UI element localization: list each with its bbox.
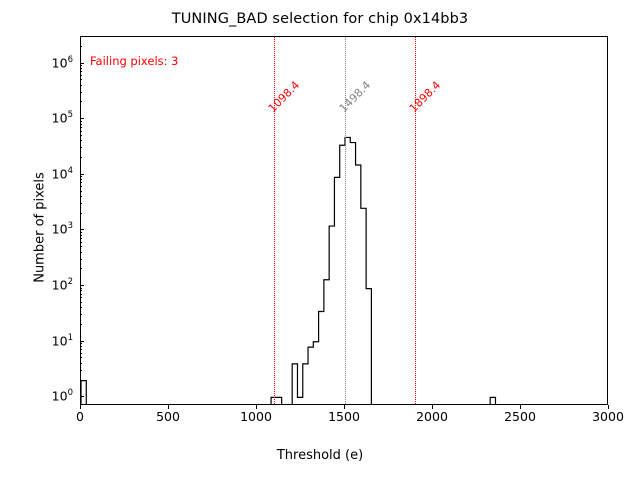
page-title: TUNING_BAD selection for chip 0x14bb3 [0, 11, 640, 27]
figure-canvas: TUNING_BAD selection for chip 0x14bb3 Fa… [0, 0, 640, 480]
y-axis-minor-tick [80, 370, 82, 371]
y-axis-label: Number of pixels [33, 28, 48, 428]
y-axis-minor-tick [80, 235, 82, 236]
x-axis-tick-label: 0 [76, 409, 84, 424]
y-axis-minor-tick [80, 92, 82, 93]
x-axis-tick-label: 500 [156, 409, 180, 424]
y-axis-minor-tick [80, 232, 82, 233]
y-axis-tick-mark [80, 285, 84, 286]
x-axis-tick-mark [168, 405, 169, 409]
y-axis-minor-tick [80, 203, 82, 204]
y-axis-minor-tick [80, 65, 82, 66]
y-axis-minor-tick [80, 246, 82, 247]
y-axis-minor-tick [80, 157, 82, 158]
y-axis-minor-tick [80, 75, 82, 76]
y-axis-minor-tick [80, 101, 82, 102]
y-axis-tick-mark [80, 229, 84, 230]
x-axis-tick-mark [608, 405, 609, 409]
x-axis-tick-mark [80, 405, 81, 409]
y-axis-minor-tick [80, 314, 82, 315]
y-axis-minor-tick [80, 179, 82, 180]
y-axis-minor-tick [80, 127, 82, 128]
y-axis-minor-tick [80, 288, 82, 289]
y-axis-minor-tick [80, 46, 82, 47]
plot-axes: Failing pixels: 3 [80, 36, 608, 405]
y-axis-minor-tick [80, 68, 82, 69]
x-axis-label: Threshold (e) [0, 448, 640, 463]
y-axis-minor-tick [80, 302, 82, 303]
y-axis-minor-tick [80, 297, 82, 298]
y-axis-tick-mark [80, 118, 84, 119]
y-axis-minor-tick [80, 307, 82, 308]
y-axis-minor-tick [80, 36, 82, 37]
x-axis-tick-label: 1500 [328, 409, 360, 424]
y-axis-tick-mark [80, 63, 84, 64]
y-axis-minor-tick [80, 213, 82, 214]
y-axis-minor-tick [80, 176, 82, 177]
y-axis-minor-tick [80, 147, 82, 148]
target-threshold-line [345, 37, 346, 404]
y-axis-minor-tick [80, 191, 82, 192]
x-axis-tick-mark [344, 405, 345, 409]
y-axis-minor-tick [80, 349, 82, 350]
y-axis-minor-tick [80, 353, 82, 354]
y-axis-minor-tick [80, 357, 82, 358]
y-axis-minor-tick [80, 294, 82, 295]
y-axis-minor-tick [80, 290, 82, 291]
y-axis-minor-tick [80, 259, 82, 260]
y-axis-minor-tick [80, 268, 82, 269]
histogram-outline [81, 137, 495, 405]
y-axis-minor-tick [80, 71, 82, 72]
y-axis-minor-tick [80, 135, 82, 136]
x-axis-tick-mark [256, 405, 257, 409]
y-axis-tick-mark [80, 174, 84, 175]
x-axis-tick-label: 2000 [416, 409, 448, 424]
y-axis-tick-mark [80, 396, 84, 397]
y-axis-minor-tick [80, 124, 82, 125]
x-axis-tick-label: 1000 [240, 409, 272, 424]
y-axis-minor-tick [80, 363, 82, 364]
x-axis-tick-label: 2500 [504, 409, 536, 424]
y-axis-minor-tick [80, 131, 82, 132]
x-axis-tick-mark [520, 405, 521, 409]
lower-threshold-line [274, 37, 275, 404]
y-axis-minor-tick [80, 79, 82, 80]
y-axis-minor-tick [80, 182, 82, 183]
y-axis-minor-tick [80, 346, 82, 347]
y-axis-minor-tick [80, 324, 82, 325]
y-axis-tick-mark [80, 341, 84, 342]
y-axis-minor-tick [80, 85, 82, 86]
y-axis-minor-tick [80, 186, 82, 187]
y-axis-minor-tick [80, 238, 82, 239]
upper-threshold-line [415, 37, 416, 404]
y-axis-minor-tick [80, 343, 82, 344]
x-axis-tick-mark [432, 405, 433, 409]
y-axis-minor-tick [80, 380, 82, 381]
y-axis-minor-tick [80, 196, 82, 197]
y-axis-minor-tick [80, 121, 82, 122]
y-axis-minor-tick [80, 242, 82, 243]
y-axis-minor-tick [80, 252, 82, 253]
x-axis-tick-label: 3000 [592, 409, 624, 424]
y-axis-minor-tick [80, 140, 82, 141]
